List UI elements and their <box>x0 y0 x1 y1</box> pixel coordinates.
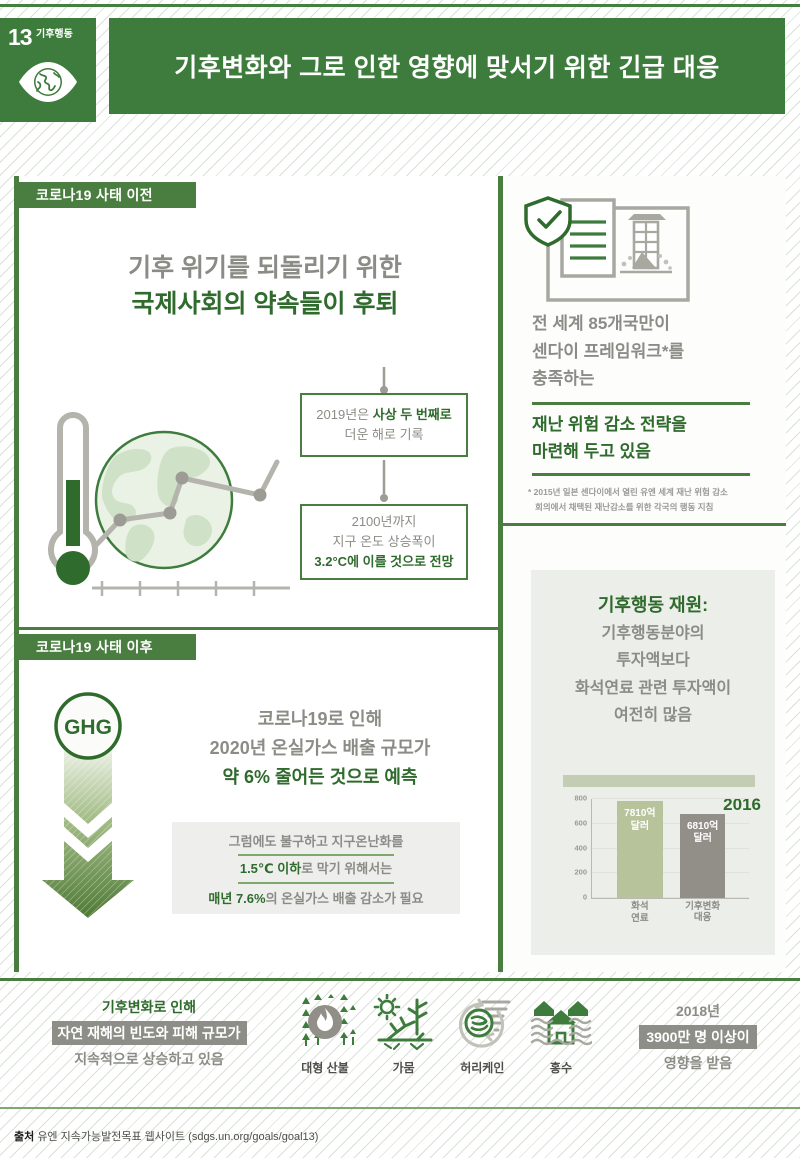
ribbon-before-covid: 코로나19 사태 이전 <box>14 182 196 208</box>
sendai-green-line2: 마련해 두고 있음 <box>532 438 750 466</box>
infographic-page: 13 기후행동 기후변화와 그로 인한 영향에 맞서기 위한 긴급 대응 코로나… <box>0 0 800 1158</box>
ghg-badge-text: GHG <box>64 716 112 739</box>
connector-arrow-middle <box>378 460 390 505</box>
ghg-note-line2-wrap: 1.5℃ 이하로 막기 위해서는 <box>172 854 460 884</box>
connector-arrow-top <box>378 367 390 395</box>
sendai-grey-line3: 충족하는 <box>532 365 782 393</box>
ribbon-after-covid: 코로나19 사태 이후 <box>14 634 196 660</box>
chart-y-tick-label: 800 <box>574 794 587 803</box>
band-left-line3: 지속적으로 상승하고 있음 <box>24 1048 274 1070</box>
callout-2100-projection: 2100년까지 지구 온도 상승폭이 3.2°C에 이를 것으로 전망 <box>300 504 468 580</box>
ghg-note-line2: 1.5℃ 이하로 막기 위해서는 <box>238 854 394 884</box>
source-text: 유엔 지속가능발전목표 웹사이트 (sdgs.un.org/goals/goal… <box>37 1131 318 1143</box>
chart-category-label: 기후변화대응 <box>685 901 720 925</box>
chart-top-bar-decoration <box>563 775 755 787</box>
lead-line-grey: 기후 위기를 되돌리기 위한 <box>55 250 475 286</box>
band-bottom-rule <box>0 1107 800 1109</box>
chart-bar-value-line1: 6810억 <box>680 821 726 833</box>
footnote-line1: * 2015년 일본 센다이에서 열린 유엔 세계 재난 위험 감소 <box>528 485 784 500</box>
ghg-line1: 코로나19로 인해 <box>170 705 470 734</box>
ghg-note-line1: 그럼에도 불구하고 지구온난화를 <box>172 830 460 854</box>
bottom-band: 기후변화로 인해 자연 재해의 빈도와 피해 규모가 지속적으로 상승하고 있음 <box>0 978 800 1110</box>
hazard-label-flood: 홍수 <box>524 1059 598 1076</box>
sendai-green-block: 재난 위험 감소 전략을 마련해 두고 있음 <box>532 402 750 476</box>
sendai-grey-line1: 전 세계 85개국만이 <box>532 310 782 338</box>
callout-2100-line1: 2100년까지 <box>310 512 458 532</box>
thermometer-icon <box>51 415 95 585</box>
disaster-frequency-statement: 기후변화로 인해 자연 재해의 빈도와 피해 규모가 지속적으로 상승하고 있음 <box>24 996 274 1071</box>
ghg-line3: 약 6% 줄어든 것으로 예측 <box>170 763 470 792</box>
column-divider <box>498 176 503 972</box>
chart-gridline: 200 <box>592 872 749 873</box>
sdg-goal-number: 13 <box>8 26 32 49</box>
finance-sub-line3: 화석연료 관련 투자액이 <box>531 676 775 701</box>
hazard-item-wildfire: 대형 산불 <box>288 992 362 1076</box>
climate-finance-card: 기후행동 재원: 기후행동분야의 투자액보다 화석연료 관련 투자액이 여전히 … <box>531 570 775 955</box>
finance-title: 기후행동 재원: <box>531 592 775 619</box>
band-right-line3: 영향을 받음 <box>608 1052 788 1074</box>
chart-plot-area: 80060040020007810억달러화석연료6810억달러기후변화대응 <box>591 799 749 899</box>
affected-people-statement: 2018년 3900만 명 이상이 영향을 받음 <box>608 1000 788 1075</box>
finance-sub-line1: 기후행동분야의 <box>531 621 775 646</box>
ghg-down-arrow-icon: GHG <box>32 690 144 920</box>
chart-category-label: 화석연료 <box>631 901 648 925</box>
sdg-goal-label: 기후행동 <box>36 30 73 40</box>
callout-2019-line1: 2019년은 사상 두 번째로 <box>310 405 458 425</box>
header-title-band: 기후변화와 그로 인한 영향에 맞서기 위한 긴급 대응 <box>109 18 785 114</box>
finance-bar-chart: 2016 80060040020007810억달러화석연료6810억달러기후변화… <box>543 775 763 940</box>
page-title: 기후변화와 그로 인한 영향에 맞서기 위한 긴급 대응 <box>174 48 720 84</box>
callout-2100-line2: 지구 온도 상승폭이 <box>310 532 458 552</box>
hazard-item-drought: 가뭄 <box>367 992 441 1076</box>
header: 13 기후행동 기후변화와 그로 인한 영향에 맞서기 위한 긴급 대응 <box>0 18 800 122</box>
ghg-statement: 코로나19로 인해 2020년 온실가스 배출 규모가 약 6% 줄어든 것으로… <box>170 705 470 791</box>
chart-y-tick-label: 600 <box>574 818 587 827</box>
hazard-icon-row: 대형 산불 <box>288 992 598 1076</box>
source-label: 출처 <box>14 1131 34 1143</box>
ghg-note-line3: 매년 7.6%의 온실가스 배출 감소가 필요 <box>172 887 460 911</box>
flood-icon <box>524 992 598 1054</box>
hazard-item-hurricane: 허리케인 <box>445 992 519 1076</box>
top-divider-rule <box>0 4 800 7</box>
sendai-green-line1: 재난 위험 감소 전략을 <box>532 411 750 439</box>
band-right-highlight-wrap: 3900만 명 이상이 <box>608 1022 788 1052</box>
chart-gridline: 400 <box>592 848 749 849</box>
chart-gridline: 800 <box>592 798 749 799</box>
band-left-highlight-wrap: 자연 재해의 빈도와 피해 규모가 <box>24 1018 274 1048</box>
chart-gridline: 0 <box>592 897 749 898</box>
hazard-label-wildfire: 대형 산불 <box>288 1059 362 1076</box>
sdg-goal-badge: 13 기후행동 <box>0 18 96 122</box>
ghg-line2: 2020년 온실가스 배출 규모가 <box>170 734 470 763</box>
band-right-highlight: 3900만 명 이상이 <box>639 1025 756 1049</box>
collapsing-building-icon <box>620 214 672 272</box>
band-left-line1: 기후변화로 인해 <box>24 996 274 1018</box>
eye-globe-icon <box>16 58 80 106</box>
lead-line-green: 국제사회의 약속들이 후퇴 <box>55 286 475 322</box>
chart-bar: 7810억달러화석연료 <box>617 801 663 898</box>
chart-y-tick-label: 200 <box>574 868 587 877</box>
wildfire-icon <box>288 992 362 1054</box>
callout-2019-record: 2019년은 사상 두 번째로 더운 해로 기록 <box>300 393 468 457</box>
sendai-footnote: * 2015년 일본 센다이에서 열린 유엔 세계 재난 위험 감소 회의에서 … <box>528 485 784 515</box>
footnote-line2: 회의에서 채택된 재난감소를 위한 각국의 행동 지침 <box>528 500 784 515</box>
hazard-item-flood: 홍수 <box>524 992 598 1076</box>
chart-bar-value-line1: 7810억 <box>617 808 663 820</box>
right-section-divider <box>503 523 786 526</box>
thermometer-globe-chart-illustration <box>22 400 312 615</box>
left-section-divider <box>14 627 498 630</box>
disaster-risk-document-icon <box>516 196 696 308</box>
hazard-label-drought: 가뭄 <box>367 1059 441 1076</box>
callout-2019-line2: 더운 해로 기록 <box>310 425 458 445</box>
hazard-label-hurricane: 허리케인 <box>445 1059 519 1076</box>
drought-icon <box>367 992 441 1054</box>
left-lead-heading: 기후 위기를 되돌리기 위한 국제사회의 약속들이 후퇴 <box>55 250 475 323</box>
chart-y-tick-label: 0 <box>583 893 587 902</box>
callout-2100-line3: 3.2°C에 이를 것으로 전망 <box>310 552 458 572</box>
source-line: 출처 유엔 지속가능발전목표 웹사이트 (sdgs.un.org/goals/g… <box>14 1128 318 1144</box>
chart-gridline: 600 <box>592 823 749 824</box>
chart-bar-value-line2: 달러 <box>617 821 663 833</box>
ghg-note-box: 그럼에도 불구하고 지구온난화를 1.5℃ 이하로 막기 위해서는 매년 7.6… <box>172 822 460 914</box>
chart-bar: 6810억달러기후변화대응 <box>680 814 726 898</box>
sendai-grey-line2: 센다이 프레임워크*를 <box>532 338 782 366</box>
finance-sub-line2: 투자액보다 <box>531 648 775 673</box>
band-right-line1: 2018년 <box>608 1000 788 1022</box>
finance-sub-line4: 여전히 많음 <box>531 703 775 728</box>
chart-y-tick-label: 400 <box>574 843 587 852</box>
hurricane-icon <box>445 992 519 1054</box>
sendai-statement: 전 세계 85개국만이 센다이 프레임워크*를 충족하는 재난 위험 감소 전략… <box>532 310 782 476</box>
chart-bar-value-line2: 달러 <box>680 833 726 845</box>
band-left-highlight: 자연 재해의 빈도와 피해 규모가 <box>52 1021 247 1045</box>
band-top-rule <box>0 978 800 981</box>
